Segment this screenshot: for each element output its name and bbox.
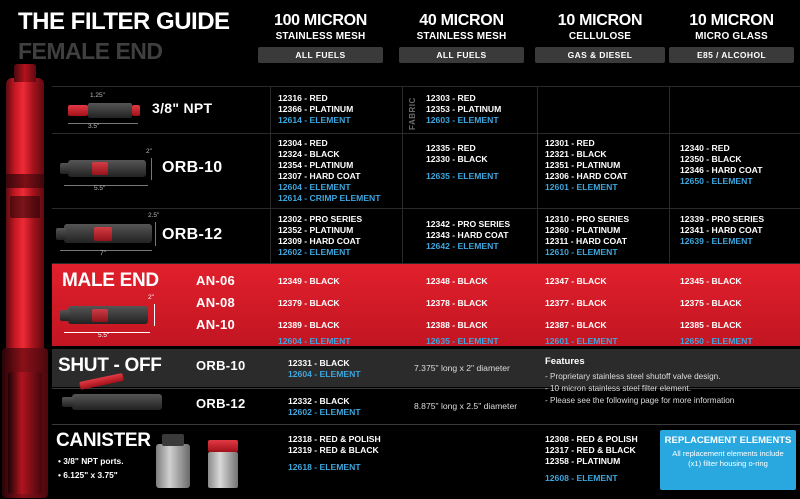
divider xyxy=(402,86,403,263)
cell-100-orb10-2: 12324 - BLACK xyxy=(278,149,340,161)
cell-10cell-orb12-3: 12311 - HARD COAT xyxy=(545,236,627,248)
cell-10mg-orb10-1: 12340 - RED xyxy=(680,143,730,155)
col-material: MICRO GLASS xyxy=(669,31,794,42)
col-fuel-badge: ALL FUELS xyxy=(399,47,524,63)
cell-10cell-orb12-4: 12610 - ELEMENT xyxy=(545,247,618,259)
cell-male-100-an10: 12389 - BLACK xyxy=(278,320,340,332)
cell-10mg-orb12-3: 12639 - ELEMENT xyxy=(680,236,753,248)
dim-label-a: 1.25" xyxy=(90,92,105,99)
features-item-3: - Please see the following page for more… xyxy=(545,395,775,407)
cell-40-npt-2: 12353 - PLATINUM xyxy=(426,104,501,116)
cell-40-orb10-2: 12330 - BLACK xyxy=(426,154,488,166)
cell-male-100-an06: 12349 - BLACK xyxy=(278,276,340,288)
col-micron: 100 MICRON xyxy=(258,12,383,30)
fitting-graphic-shutoff xyxy=(58,382,168,422)
cell-10mg-orb12-2: 12341 - HARD COAT xyxy=(680,225,762,237)
section-title-female-end: FEMALE END xyxy=(18,38,258,65)
canister-graphic xyxy=(156,428,266,494)
product-photo-strip xyxy=(0,0,52,499)
cell-canister-10cell-element: 12608 - ELEMENT xyxy=(545,473,618,485)
section-title-canister: CANISTER xyxy=(56,430,151,452)
col-micron: 10 MICRON xyxy=(535,12,665,30)
cell-10cell-orb12-1: 12310 - PRO SERIES xyxy=(545,214,629,226)
cell-100-orb10-6: 12614 - CRIMP ELEMENT xyxy=(278,193,381,205)
cell-shutoff-orb12-part: 12332 - BLACK xyxy=(288,396,350,408)
row-label-shutoff-orb-10: ORB-10 xyxy=(196,358,245,373)
col-fuel-badge: ALL FUELS xyxy=(258,47,383,63)
cell-100-orb10-4: 12307 - HARD COAT xyxy=(278,171,360,183)
cell-male-10mg-an10: 12385 - BLACK xyxy=(680,320,742,332)
cell-100-orb12-4: 12602 - ELEMENT xyxy=(278,247,351,259)
cell-10cell-orb10-3: 12351 - PLATINUM xyxy=(545,160,620,172)
cell-10mg-orb10-3: 12346 - HARD COAT xyxy=(680,165,762,177)
filter-guide-sheet: THE FILTER GUIDE FEMALE END 100 MICRON S… xyxy=(0,0,800,499)
column-header-40-micron: 40 MICRON STAINLESS MESH ALL FUELS xyxy=(399,12,524,63)
cell-40-orb12-2: 12343 - HARD COAT xyxy=(426,230,508,242)
cell-canister-10cell-2: 12317 - RED & BLACK xyxy=(545,445,636,457)
row-label-orb-10: ORB-10 xyxy=(162,159,222,177)
cell-100-orb10-1: 12304 - RED xyxy=(278,138,328,150)
features-item-2: - 10 micron stainless steel filter eleme… xyxy=(545,383,775,395)
replacement-elements-body: All replacement elements include (x1) fi… xyxy=(660,446,796,469)
cell-40-orb12-1: 12342 - PRO SERIES xyxy=(426,219,510,231)
dim-label-a: 2" xyxy=(148,294,154,301)
cell-100-orb12-3: 12309 - HARD COAT xyxy=(278,236,360,248)
dim-label-b: 3.5" xyxy=(88,123,99,130)
cell-10cell-orb10-1: 12301 - RED xyxy=(545,138,595,150)
fabric-label: FABRIC xyxy=(408,97,417,130)
cell-male-100-element: 12604 - ELEMENT xyxy=(278,336,351,348)
divider xyxy=(52,86,800,87)
row-label-an-06: AN-06 xyxy=(196,273,235,288)
cell-male-40-an10: 12388 - BLACK xyxy=(426,320,488,332)
cell-100-orb10-3: 12354 - PLATINUM xyxy=(278,160,353,172)
cell-male-10mg-an08: 12375 - BLACK xyxy=(680,298,742,310)
cell-10cell-orb10-4: 12306 - HARD COAT xyxy=(545,171,627,183)
section-title-male-end: MALE END xyxy=(62,270,159,292)
cell-100-npt-3: 12614 - ELEMENT xyxy=(278,115,351,127)
divider xyxy=(52,133,800,134)
cell-canister-100-1: 12318 - RED & POLISH xyxy=(288,434,381,446)
divider xyxy=(52,208,800,209)
cell-10mg-orb10-2: 12350 - BLACK xyxy=(680,154,742,166)
cell-100-npt-1: 12316 - RED xyxy=(278,93,328,105)
dim-label-a: 2.5" xyxy=(148,212,159,219)
hose-inner-graphic xyxy=(8,372,42,494)
cell-40-orb12-3: 12642 - ELEMENT xyxy=(426,241,499,253)
dim-label-b: 7" xyxy=(100,250,106,257)
cell-100-orb12-2: 12352 - PLATINUM xyxy=(278,225,353,237)
cell-10mg-orb10-4: 12650 - ELEMENT xyxy=(680,176,753,188)
bottle-logo xyxy=(10,196,40,218)
features-item-1: - Proprietary stainless steel shutoff va… xyxy=(545,371,775,383)
cell-canister-100-2: 12319 - RED & BLACK xyxy=(288,445,379,457)
replacement-elements-callout: REPLACEMENT ELEMENTS All replacement ele… xyxy=(660,430,796,490)
cell-100-orb12-1: 12302 - PRO SERIES xyxy=(278,214,362,226)
cell-shutoff-orb12-element: 12602 - ELEMENT xyxy=(288,407,361,419)
fuel-bottle-graphic xyxy=(6,78,44,378)
replacement-elements-title: REPLACEMENT ELEMENTS xyxy=(660,430,796,446)
cell-40-npt-1: 12303 - RED xyxy=(426,93,476,105)
col-material: STAINLESS MESH xyxy=(258,31,383,42)
shutoff-orb10-size: 7.375" long x 2" diameter xyxy=(414,363,510,375)
row-label-shutoff-orb-12: ORB-12 xyxy=(196,396,245,411)
row-label-38-npt: 3/8" NPT xyxy=(152,100,212,116)
cell-canister-10cell-1: 12308 - RED & POLISH xyxy=(545,434,638,446)
col-fuel-badge: GAS & DIESEL xyxy=(535,47,665,63)
cell-male-10mg-an06: 12345 - BLACK xyxy=(680,276,742,288)
cell-canister-10cell-3: 12358 - PLATINUM xyxy=(545,456,620,468)
canister-note-2: • 6.125" x 3.75" xyxy=(58,470,118,480)
cell-10cell-orb10-2: 12321 - BLACK xyxy=(545,149,607,161)
divider xyxy=(669,86,670,263)
features-title: Features xyxy=(545,356,775,367)
cell-male-100-an08: 12379 - BLACK xyxy=(278,298,340,310)
cell-40-orb10-1: 12335 - RED xyxy=(426,143,476,155)
cell-10cell-orb10-5: 12601 - ELEMENT xyxy=(545,182,618,194)
cell-shutoff-orb10-part: 12331 - BLACK xyxy=(288,358,350,370)
page-title: THE FILTER GUIDE xyxy=(18,8,258,36)
cell-10cell-orb12-2: 12360 - PLATINUM xyxy=(545,225,620,237)
column-header-10-micron-micro-glass: 10 MICRON MICRO GLASS E85 / ALCOHOL xyxy=(669,12,794,63)
shutoff-orb12-size: 8.875" long x 2.5" diameter xyxy=(414,401,517,413)
cell-100-npt-2: 12366 - PLATINUM xyxy=(278,104,353,116)
dim-label-b: 5.5" xyxy=(98,332,109,339)
cell-male-10cell-an06: 12347 - BLACK xyxy=(545,276,607,288)
canister-note-1: • 3/8" NPT ports. xyxy=(58,456,124,466)
cell-male-40-element: 12635 - ELEMENT xyxy=(426,336,499,348)
cell-40-orb10-3: 12635 - ELEMENT xyxy=(426,171,499,183)
col-fuel-badge: E85 / ALCOHOL xyxy=(669,47,794,63)
cell-10mg-orb12-1: 12339 - PRO SERIES xyxy=(680,214,764,226)
column-header-100-micron: 100 MICRON STAINLESS MESH ALL FUELS xyxy=(258,12,383,63)
col-micron: 10 MICRON xyxy=(669,12,794,30)
dim-label-b: 5.5" xyxy=(94,185,105,192)
divider xyxy=(52,424,800,425)
cell-canister-100-element: 12618 - ELEMENT xyxy=(288,462,361,474)
cell-male-10cell-an10: 12387 - BLACK xyxy=(545,320,607,332)
cell-100-orb10-5: 12604 - ELEMENT xyxy=(278,182,351,194)
col-material: CELLULOSE xyxy=(535,31,665,42)
divider xyxy=(270,86,271,263)
cell-male-10cell-an08: 12377 - BLACK xyxy=(545,298,607,310)
bottle-band xyxy=(6,174,44,188)
cell-male-40-an08: 12378 - BLACK xyxy=(426,298,488,310)
fitting-graphic-orb12: 2.5" 7" xyxy=(56,212,156,260)
col-micron: 40 MICRON xyxy=(399,12,524,30)
fitting-graphic-orb10: 2" 5.5" xyxy=(58,140,153,198)
page-title-block: THE FILTER GUIDE FEMALE END xyxy=(18,8,258,65)
fitting-graphic-male-end: 2" 5.5" xyxy=(58,292,158,344)
column-header-10-micron-cellulose: 10 MICRON CELLULOSE GAS & DIESEL xyxy=(535,12,665,63)
section-title-shut-off: SHUT - OFF xyxy=(58,355,162,377)
cell-male-10mg-element: 12650 - ELEMENT xyxy=(680,336,753,348)
cell-40-npt-3: 12603 - ELEMENT xyxy=(426,115,499,127)
features-block: Features - Proprietary stainless steel s… xyxy=(545,356,775,407)
cell-male-10cell-element: 12601 - ELEMENT xyxy=(545,336,618,348)
cell-shutoff-orb10-element: 12604 - ELEMENT xyxy=(288,369,361,381)
divider xyxy=(537,86,538,263)
fitting-graphic-npt: 1.25" 3.5" xyxy=(60,92,145,130)
cell-male-40-an06: 12348 - BLACK xyxy=(426,276,488,288)
row-label-orb-12: ORB-12 xyxy=(162,226,222,244)
row-label-an-08: AN-08 xyxy=(196,295,235,310)
dim-label-a: 2" xyxy=(146,148,152,155)
col-material: STAINLESS MESH xyxy=(399,31,524,42)
row-label-an-10: AN-10 xyxy=(196,317,235,332)
